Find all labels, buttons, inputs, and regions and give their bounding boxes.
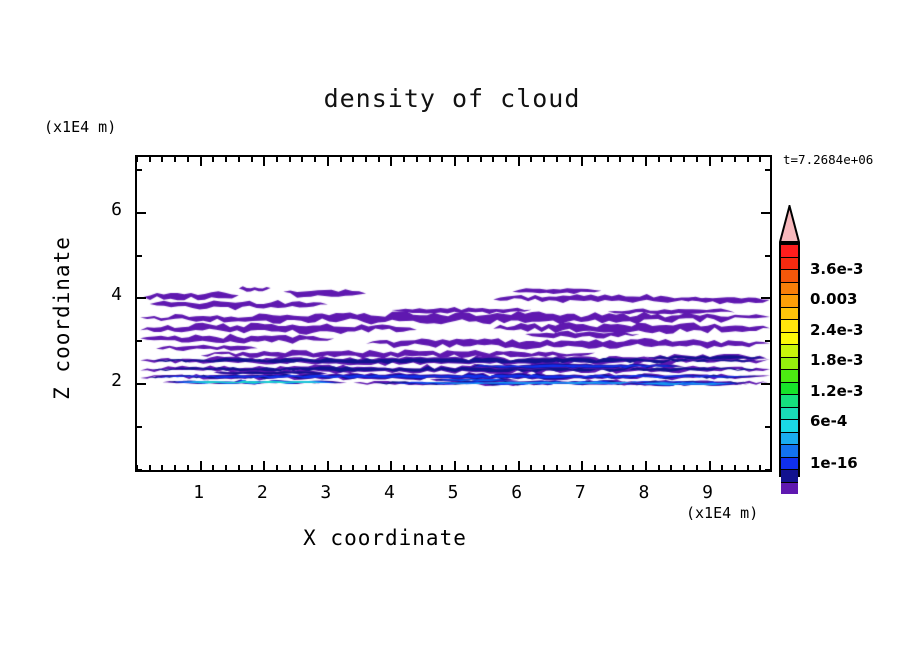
- x-tick-top: [518, 157, 520, 166]
- x-tick-bottom: [505, 465, 507, 470]
- x-tick-bottom: [670, 465, 672, 470]
- colorbar-band: [781, 419, 798, 432]
- x-tick-bottom: [441, 465, 443, 470]
- x-tick-top: [505, 157, 507, 162]
- x-tick-top: [301, 157, 303, 162]
- x-tick-top: [212, 157, 214, 162]
- x-tick-bottom: [340, 465, 342, 470]
- x-axis-unit-label: (x1E4 m): [686, 504, 758, 522]
- x-tick-bottom: [543, 465, 545, 470]
- x-tick-bottom: [747, 465, 749, 470]
- y-tick-left: [137, 383, 146, 385]
- colorbar-band: [781, 382, 798, 395]
- x-tick-bottom: [174, 465, 176, 470]
- x-tick-bottom: [352, 465, 354, 470]
- x-tick-bottom: [289, 465, 291, 470]
- x-tick-label: 2: [242, 482, 282, 503]
- x-tick-top: [403, 157, 405, 162]
- x-tick-top: [467, 157, 469, 162]
- x-tick-bottom: [683, 465, 685, 470]
- x-tick-top: [352, 157, 354, 162]
- page-title: density of cloud: [0, 84, 904, 113]
- y-tick-left: [137, 340, 142, 342]
- x-tick-top: [225, 157, 227, 162]
- colorbar-tick-label: 2.4e-3: [810, 321, 863, 339]
- y-tick-right: [761, 297, 770, 299]
- x-tick-top: [569, 157, 571, 162]
- x-tick-top: [581, 157, 583, 166]
- x-tick-top: [200, 157, 202, 166]
- x-tick-top: [327, 157, 329, 166]
- contour-field: [137, 157, 770, 470]
- x-tick-top: [607, 157, 609, 162]
- x-tick-bottom: [569, 465, 571, 470]
- x-tick-top: [759, 157, 761, 162]
- colorbar-band: [781, 357, 798, 370]
- y-axis-unit-label: (x1E4 m): [44, 118, 116, 136]
- x-axis-title: X coordinate: [0, 526, 770, 550]
- x-tick-bottom: [518, 461, 520, 470]
- x-tick-bottom: [212, 465, 214, 470]
- y-tick-label: 4: [92, 284, 122, 305]
- x-tick-label: 6: [497, 482, 537, 503]
- x-tick-bottom: [365, 465, 367, 470]
- colorbar-band: [781, 469, 798, 482]
- colorbar-band: [781, 332, 798, 345]
- y-tick-left: [137, 426, 142, 428]
- y-tick-right: [761, 212, 770, 214]
- x-tick-bottom: [607, 465, 609, 470]
- x-tick-bottom: [200, 461, 202, 470]
- y-tick-left: [137, 169, 142, 171]
- x-tick-bottom: [301, 465, 303, 470]
- x-tick-top: [136, 157, 138, 162]
- colorbar-band: [781, 294, 798, 307]
- colorbar-band: [781, 245, 798, 257]
- x-tick-top: [187, 157, 189, 162]
- x-tick-top: [492, 157, 494, 162]
- x-tick-top: [390, 157, 392, 166]
- x-tick-top: [314, 157, 316, 162]
- x-tick-top: [365, 157, 367, 162]
- colorbar-band: [781, 369, 798, 382]
- y-tick-label: 2: [92, 370, 122, 391]
- x-tick-bottom: [263, 461, 265, 470]
- colorbar-tick-label: 1.8e-3: [810, 351, 863, 369]
- x-tick-top: [709, 157, 711, 166]
- x-tick-label: 4: [369, 482, 409, 503]
- x-tick-bottom: [556, 465, 558, 470]
- x-tick-bottom: [734, 465, 736, 470]
- x-tick-bottom: [187, 465, 189, 470]
- y-tick-left: [137, 469, 142, 471]
- x-tick-top: [454, 157, 456, 166]
- x-tick-top: [683, 157, 685, 162]
- colorbar-tick-label: 1.2e-3: [810, 382, 863, 400]
- x-tick-bottom: [378, 465, 380, 470]
- y-tick-left: [137, 297, 146, 299]
- time-stamp-annotation: t=7.2684e+06: [783, 152, 873, 167]
- x-tick-top: [696, 157, 698, 162]
- x-tick-bottom: [658, 465, 660, 470]
- x-tick-bottom: [696, 465, 698, 470]
- x-tick-bottom: [454, 461, 456, 470]
- x-tick-top: [670, 157, 672, 162]
- x-tick-top: [721, 157, 723, 162]
- y-tick-label: 6: [92, 199, 122, 220]
- x-tick-top: [289, 157, 291, 162]
- colorbar[interactable]: [779, 243, 800, 477]
- x-tick-bottom: [594, 465, 596, 470]
- x-tick-top: [658, 157, 660, 162]
- x-tick-top: [543, 157, 545, 162]
- y-tick-right: [765, 340, 770, 342]
- x-tick-top: [530, 157, 532, 162]
- x-tick-top: [480, 157, 482, 162]
- x-tick-bottom: [390, 461, 392, 470]
- y-tick-left: [137, 212, 146, 214]
- x-tick-bottom: [492, 465, 494, 470]
- x-tick-top: [645, 157, 647, 166]
- y-tick-right: [765, 426, 770, 428]
- x-tick-top: [174, 157, 176, 162]
- colorbar-tick-label: 0.003: [810, 290, 857, 308]
- colorbar-tick-label: 1e-16: [810, 454, 858, 472]
- x-tick-top: [276, 157, 278, 162]
- x-tick-label: 1: [179, 482, 219, 503]
- x-tick-bottom: [416, 465, 418, 470]
- x-tick-top: [238, 157, 240, 162]
- x-tick-top: [161, 157, 163, 162]
- x-tick-bottom: [645, 461, 647, 470]
- x-tick-top: [416, 157, 418, 162]
- colorbar-tick-label: 3.6e-3: [810, 260, 863, 278]
- x-tick-top: [441, 157, 443, 162]
- x-tick-bottom: [327, 461, 329, 470]
- x-tick-top: [251, 157, 253, 162]
- colorbar-band: [781, 344, 798, 357]
- x-tick-top: [429, 157, 431, 162]
- colorbar-band: [781, 482, 798, 495]
- colorbar-band: [781, 257, 798, 270]
- x-tick-top: [340, 157, 342, 162]
- x-tick-bottom: [530, 465, 532, 470]
- x-tick-top: [378, 157, 380, 162]
- x-tick-bottom: [429, 465, 431, 470]
- x-tick-bottom: [161, 465, 163, 470]
- x-tick-top: [734, 157, 736, 162]
- x-tick-bottom: [721, 465, 723, 470]
- x-tick-top: [632, 157, 634, 162]
- x-tick-label: 8: [624, 482, 664, 503]
- x-tick-bottom: [467, 465, 469, 470]
- x-tick-bottom: [251, 465, 253, 470]
- x-tick-label: 7: [560, 482, 600, 503]
- colorbar-band: [781, 307, 798, 320]
- x-tick-bottom: [238, 465, 240, 470]
- x-tick-label: 3: [306, 482, 346, 503]
- colorbar-band: [781, 269, 798, 282]
- x-tick-bottom: [403, 465, 405, 470]
- x-tick-bottom: [314, 465, 316, 470]
- x-tick-top: [594, 157, 596, 162]
- colorbar-band: [781, 457, 798, 470]
- x-tick-bottom: [709, 461, 711, 470]
- colorbar-band: [781, 444, 798, 457]
- x-tick-bottom: [480, 465, 482, 470]
- y-tick-right: [761, 383, 770, 385]
- x-tick-bottom: [759, 465, 761, 470]
- colorbar-band: [781, 432, 798, 445]
- y-tick-right: [765, 255, 770, 257]
- x-tick-top: [149, 157, 151, 162]
- x-tick-top: [619, 157, 621, 162]
- colorbar-band: [781, 407, 798, 420]
- x-tick-bottom: [632, 465, 634, 470]
- x-tick-bottom: [581, 461, 583, 470]
- x-tick-bottom: [276, 465, 278, 470]
- x-tick-bottom: [225, 465, 227, 470]
- plot-area[interactable]: [135, 155, 772, 472]
- colorbar-tick-label: 6e-4: [810, 412, 847, 430]
- colorbar-over-arrow: [779, 205, 800, 243]
- x-tick-top: [556, 157, 558, 162]
- colorbar-band: [781, 319, 798, 332]
- y-tick-right: [765, 469, 770, 471]
- x-tick-label: 9: [688, 482, 728, 503]
- x-tick-top: [747, 157, 749, 162]
- x-tick-top: [263, 157, 265, 166]
- x-tick-bottom: [149, 465, 151, 470]
- colorbar-band: [781, 394, 798, 407]
- y-axis-title: Z coordinate: [50, 198, 74, 438]
- x-tick-label: 5: [433, 482, 473, 503]
- x-tick-bottom: [619, 465, 621, 470]
- colorbar-band: [781, 282, 798, 295]
- y-tick-right: [765, 169, 770, 171]
- y-tick-left: [137, 255, 142, 257]
